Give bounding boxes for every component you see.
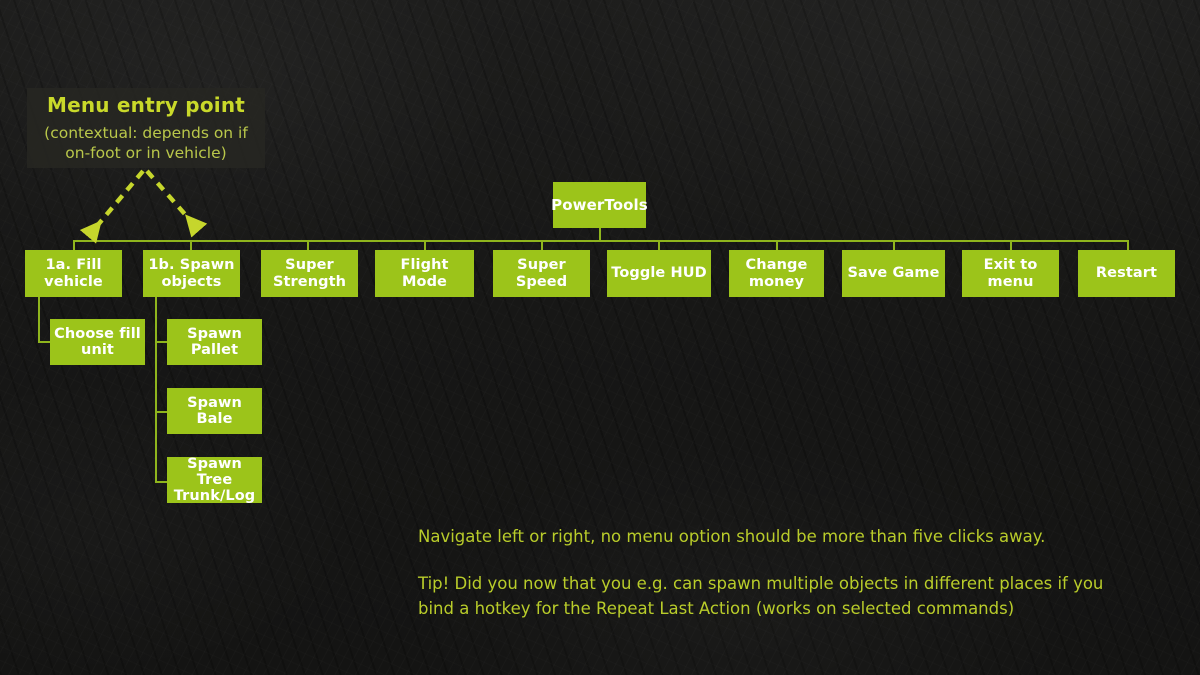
node-fill-vehicle-label: 1a. Fillvehicle <box>40 257 107 289</box>
connector-fill-vehicle-trunk <box>38 297 40 341</box>
arrow-to-spawn-objects <box>147 171 190 220</box>
node-restart[interactable]: Restart <box>1078 250 1175 297</box>
menu-entry-point-subtitle-line-2: on-foot or in vehicle) <box>65 143 226 163</box>
connector-spawn-objects-trunk <box>155 297 157 481</box>
connector-main-bus <box>73 240 1128 242</box>
node-spawn-tree-trunk-label: Spawn TreeTrunk/Log <box>167 456 262 505</box>
node-choose-fill-unit-label: Choose fillunit <box>50 326 145 358</box>
node-restart-label: Restart <box>1092 265 1161 281</box>
node-super-speed[interactable]: SuperSpeed <box>493 250 590 297</box>
node-spawn-objects[interactable]: 1b. Spawnobjects <box>143 250 240 297</box>
node-powertools[interactable]: PowerTools <box>553 182 646 228</box>
connector-spawn-stub-tree-trunk <box>155 481 167 483</box>
node-spawn-tree-trunk[interactable]: Spawn TreeTrunk/Log <box>167 457 262 503</box>
arrow-to-fill-vehicle <box>97 171 143 226</box>
node-fill-vehicle[interactable]: 1a. Fillvehicle <box>25 250 122 297</box>
node-save-game[interactable]: Save Game <box>842 250 945 297</box>
note-tip-line-2: bind a hotkey for the Repeat Last Action… <box>418 596 1178 621</box>
node-exit-to-menu-label: Exit tomenu <box>980 257 1042 289</box>
connector-spawn-stub-bale <box>155 411 167 413</box>
node-super-strength[interactable]: SuperStrength <box>261 250 358 297</box>
node-choose-fill-unit[interactable]: Choose fillunit <box>50 319 145 365</box>
node-spawn-bale[interactable]: Spawn Bale <box>167 388 262 434</box>
node-super-speed-label: SuperSpeed <box>512 257 571 289</box>
node-super-strength-label: SuperStrength <box>269 257 350 289</box>
node-flight-mode[interactable]: Flight Mode <box>375 250 474 297</box>
note-navigate: Navigate left or right, no menu option s… <box>418 524 1178 549</box>
powertools-menu-map: Menu entry point (contextual: depends on… <box>0 0 1200 675</box>
node-exit-to-menu[interactable]: Exit tomenu <box>962 250 1059 297</box>
node-toggle-hud[interactable]: Toggle HUD <box>607 250 711 297</box>
menu-entry-point-subtitle-line-1: (contextual: depends on if <box>44 123 248 143</box>
connector-fill-vehicle-stub-1 <box>38 341 50 343</box>
menu-entry-point-callout: Menu entry point (contextual: depends on… <box>27 88 265 168</box>
node-change-money[interactable]: Changemoney <box>729 250 824 297</box>
node-spawn-objects-label: 1b. Spawnobjects <box>144 257 238 289</box>
node-spawn-pallet-label: SpawnPallet <box>183 326 246 358</box>
node-spawn-bale-label: Spawn Bale <box>167 395 262 427</box>
node-save-game-label: Save Game <box>843 265 943 281</box>
node-change-money-label: Changemoney <box>742 257 812 289</box>
note-spacer <box>418 549 1178 571</box>
node-powertools-label: PowerTools <box>547 197 652 214</box>
connector-spawn-stub-pallet <box>155 341 167 343</box>
node-spawn-pallet[interactable]: SpawnPallet <box>167 319 262 365</box>
notes-block: Navigate left or right, no menu option s… <box>418 524 1178 621</box>
note-tip-line-1: Tip! Did you now that you e.g. can spawn… <box>418 571 1178 596</box>
node-flight-mode-label: Flight Mode <box>375 257 474 289</box>
node-toggle-hud-label: Toggle HUD <box>607 265 710 281</box>
menu-entry-point-title: Menu entry point <box>47 93 245 117</box>
